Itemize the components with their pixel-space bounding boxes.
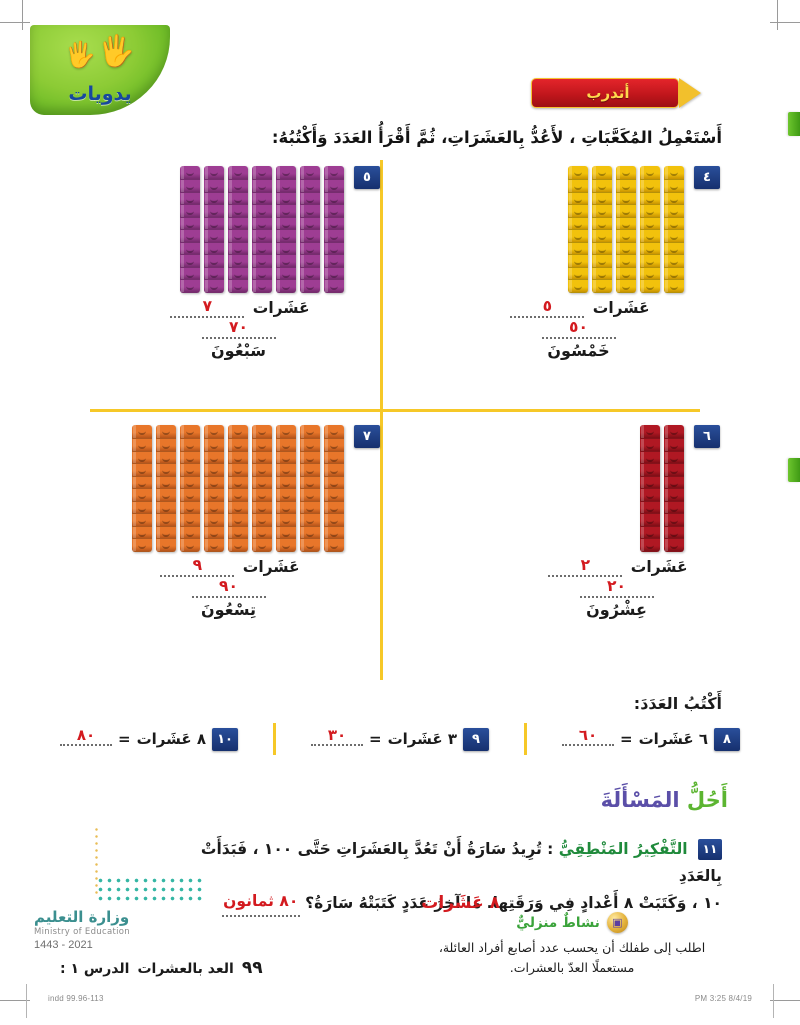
unit-cube (640, 218, 660, 231)
unit-cube (324, 193, 344, 206)
unit-cube (300, 502, 320, 515)
unit-cube (204, 218, 224, 231)
cube-rod (640, 166, 660, 293)
unit-cube (228, 425, 248, 439)
unit-cube (664, 439, 684, 452)
unit-cube (132, 477, 152, 490)
strip-separator (524, 723, 527, 755)
home-activity-icon: ▣ (607, 912, 628, 933)
unit-cube (228, 180, 248, 193)
unit-cube (664, 205, 684, 218)
unit-cube (276, 180, 296, 193)
unit-cube (324, 477, 344, 490)
unit-cube (324, 539, 344, 552)
unit-cube (132, 527, 152, 540)
unit-cube (616, 280, 636, 293)
exercise-number-badge: ٥ (354, 166, 380, 189)
problem-line-1: ١١ التَّفْكِيرُ المَنْطِقِيُّ : تُرِيدُ … (162, 836, 722, 890)
unit-cube (132, 489, 152, 502)
unit-cube (276, 489, 296, 502)
unit-cube (276, 243, 296, 256)
unit-cube (180, 166, 200, 180)
unit-cube (568, 255, 588, 268)
unit-cube (180, 243, 200, 256)
word-answer: عِشْرُونَ (519, 600, 714, 620)
unit-cube (180, 268, 200, 281)
unit-cube (180, 193, 200, 206)
unit-cube (252, 268, 272, 281)
exercise-answers: عَشَرات ٢ ٢٠ عِشْرُونَ (519, 558, 714, 621)
arrow-icon (679, 78, 701, 108)
lesson-title: العد بالعشرات (137, 961, 233, 977)
unit-cube (204, 527, 224, 540)
edge-tab[interactable] (788, 112, 800, 136)
unit-cube (300, 243, 320, 256)
unit-cube (276, 193, 296, 206)
unit-cube (300, 280, 320, 293)
unit-cube (616, 205, 636, 218)
unit-cube (300, 180, 320, 193)
edge-tab[interactable] (788, 458, 800, 482)
unit-cube (276, 514, 296, 527)
unit-cube (156, 425, 176, 439)
unit-cube (568, 193, 588, 206)
cube-rod (664, 166, 684, 293)
unit-cube (640, 514, 660, 527)
unit-cube (300, 452, 320, 465)
exercise-number-badge: ٧ (354, 425, 380, 448)
unit-cube (592, 218, 612, 231)
solve-heading-blue: المَسْأَلَةَ (601, 788, 680, 812)
unit-cube (204, 489, 224, 502)
cube-rod (592, 166, 612, 293)
unit-cube (664, 255, 684, 268)
unit-cube (252, 527, 272, 540)
unit-cube (324, 243, 344, 256)
unit-cube (568, 268, 588, 281)
unit-cube (204, 439, 224, 452)
tens-expression: ٦ عَشَرات (639, 730, 708, 748)
unit-cube (276, 539, 296, 552)
cube-rod (324, 166, 344, 293)
unit-cube (180, 425, 200, 439)
unit-cube (132, 502, 152, 515)
unit-cube (616, 193, 636, 206)
unit-cube (156, 502, 176, 515)
unit-cube (276, 425, 296, 439)
cube-rod (204, 166, 224, 293)
unit-cube (252, 489, 272, 502)
unit-cube (324, 280, 344, 293)
unit-cube (640, 205, 660, 218)
unit-cube (180, 230, 200, 243)
unit-cube (592, 280, 612, 293)
unit-cube (252, 452, 272, 465)
unit-cube (228, 205, 248, 218)
print-rule (26, 984, 27, 1018)
unit-cube (228, 255, 248, 268)
exercise-answers: عَشَرات ٥ ٥٠ خَمْسُونَ (471, 299, 686, 362)
unit-cube (180, 452, 200, 465)
unit-cube (180, 280, 200, 293)
unit-cube (640, 502, 660, 515)
write-number-answer[interactable]: ٨٠ (60, 726, 112, 746)
unit-cube (132, 439, 152, 452)
unit-cube (640, 452, 660, 465)
ministry-name-arabic: وزارة التعليم (34, 908, 130, 926)
unit-cube (568, 280, 588, 293)
unit-cube (252, 464, 272, 477)
word-answer: خَمْسُونَ (471, 341, 686, 361)
cube-rod (616, 166, 636, 293)
unit-cube (252, 425, 272, 439)
unit-cube (664, 230, 684, 243)
unit-cube (616, 268, 636, 281)
unit-cube (276, 255, 296, 268)
unit-cube (300, 514, 320, 527)
unit-cube (664, 452, 684, 465)
cube-rod (228, 425, 248, 552)
crop-mark (22, 0, 23, 30)
unit-cube (156, 527, 176, 540)
instruction-text: أَسْتَعْمِلُ المُكَعَّبَاتِ ، لأَعُدُّ ب… (182, 128, 722, 147)
hands-on-label: يدويات (30, 83, 170, 105)
print-mark-right: 8/4/19 3:25 PM (695, 994, 752, 1003)
unit-cube (592, 268, 612, 281)
unit-cube (664, 280, 684, 293)
unit-cube (204, 166, 224, 180)
unit-cube (156, 514, 176, 527)
unit-cube (300, 464, 320, 477)
unit-cube (276, 439, 296, 452)
write-number-item: ٩ ٣ عَشَرات = ٣٠ (311, 728, 489, 751)
number-answer-blank[interactable]: ٥٠ (542, 318, 616, 339)
unit-cube (228, 218, 248, 231)
unit-cube (664, 527, 684, 540)
unit-cube (664, 539, 684, 552)
unit-cube (204, 205, 224, 218)
cube-rod (228, 166, 248, 293)
unit-cube (276, 527, 296, 540)
number-answer-line: ٢٠ (519, 579, 714, 600)
unit-cube (132, 464, 152, 477)
cube-rod (132, 425, 152, 552)
unit-cube (300, 439, 320, 452)
unit-cube (640, 230, 660, 243)
unit-cube (300, 218, 320, 231)
unit-cube (300, 230, 320, 243)
home-activity-text: اطلب إلى طفلك أن يحسب عدد أصابع أفراد ال… (422, 938, 722, 978)
unit-cube (664, 502, 684, 515)
unit-cube (228, 166, 248, 180)
cube-rod (300, 425, 320, 552)
home-activity-title: نشاطٌ منزليٌّ (516, 915, 600, 931)
unit-cube (180, 502, 200, 515)
unit-cube (180, 514, 200, 527)
unit-cube (252, 502, 272, 515)
unit-cube (276, 166, 296, 180)
unit-cube (252, 514, 272, 527)
unit-cube (228, 539, 248, 552)
unit-cube (664, 268, 684, 281)
unit-cube (324, 205, 344, 218)
unit-cube (204, 477, 224, 490)
unit-cube (300, 268, 320, 281)
textbook-page: 🖐 🖐 يدويات أتدرب أَسْتَعْمِلُ المُكَعَّب… (0, 0, 800, 1025)
cube-rod (252, 425, 272, 552)
lesson-label: الدرس ١ : (60, 961, 129, 977)
unit-cube (228, 193, 248, 206)
unit-cube (592, 230, 612, 243)
unit-cube (204, 230, 224, 243)
unit-cube (156, 452, 176, 465)
divider-vertical (380, 160, 383, 680)
unit-cube (156, 439, 176, 452)
unit-cube (252, 243, 272, 256)
unit-cube (640, 539, 660, 552)
hand-icon: 🖐 (98, 37, 135, 67)
unit-cube (324, 514, 344, 527)
unit-cube (300, 477, 320, 490)
tens-expression: ٣ عَشَرات (388, 730, 457, 748)
write-number-item: ٨ ٦ عَشَرات = ٦٠ (562, 728, 740, 751)
number-answer-blank[interactable]: ٢٠ (580, 577, 654, 598)
unit-cube (228, 268, 248, 281)
unit-cube (300, 425, 320, 439)
exercise-answers: عَشَرات ٧ ٧٠ سَبْعُونَ (131, 299, 346, 362)
solve-problem-heading: أَحُلُّ المَسْأَلَةَ (601, 788, 728, 812)
word-answer: سَبْعُونَ (131, 341, 346, 361)
unit-cube (640, 193, 660, 206)
unit-cube (156, 489, 176, 502)
tens-answer-blank[interactable]: ٢ (548, 556, 622, 577)
unit-cube (204, 452, 224, 465)
unit-cube (616, 166, 636, 180)
unit-cube (664, 166, 684, 180)
unit-cube (204, 255, 224, 268)
number-answer-blank[interactable]: ٩٠ (192, 577, 266, 598)
unit-cube (252, 280, 272, 293)
unit-cube (324, 255, 344, 268)
unit-cube (204, 464, 224, 477)
lesson-footer: ٩٩ العد بالعشرات الدرس ١ : (60, 958, 263, 978)
unit-cube (640, 439, 660, 452)
unit-cube (300, 205, 320, 218)
exercise-answers: عَشَرات ٩ ٩٠ تِسْعُونَ (111, 558, 346, 621)
home-activity: ▣ نشاطٌ منزليٌّ اطلب إلى طفلك أن يحسب عد… (422, 912, 722, 978)
unit-cube (180, 439, 200, 452)
unit-cube (664, 193, 684, 206)
unit-cube (228, 439, 248, 452)
unit-cube (276, 477, 296, 490)
unit-cube (300, 166, 320, 180)
cube-rod (252, 166, 272, 293)
crop-mark (0, 22, 30, 23)
unit-cube (252, 539, 272, 552)
write-number-answer[interactable]: ٣٠ (311, 726, 363, 746)
unit-cube (276, 230, 296, 243)
ministry-years: 2021 - 1443 (34, 939, 130, 951)
unit-cube (276, 268, 296, 281)
exercise-6: ٦ عَشَرات ٢ ٢٠ عِشْرُونَ (519, 425, 720, 620)
unit-cube (664, 477, 684, 490)
page-number: ٩٩ (242, 958, 263, 978)
unit-cube (204, 514, 224, 527)
print-rule (773, 984, 774, 1018)
unit-cube (156, 477, 176, 490)
number-answer-line: ٧٠ (131, 320, 346, 341)
word-answer: تِسْعُونَ (111, 600, 346, 620)
unit-cube (324, 464, 344, 477)
dotted-rule (392, 806, 552, 808)
write-number-strip: ٨ ٦ عَشَرات = ٦٠ ٩ ٣ عَشَرات = ٣٠ ١٠ ٨ ع… (60, 722, 740, 756)
unit-cube (640, 464, 660, 477)
unit-cube (640, 477, 660, 490)
unit-cube (300, 527, 320, 540)
number-answer-blank[interactable]: ٧٠ (202, 318, 276, 339)
unit-cube (568, 243, 588, 256)
unit-cube (252, 205, 272, 218)
unit-cube (640, 280, 660, 293)
write-number-heading: أَكْتُبُ العَدَدَ: (634, 694, 722, 713)
unit-cube (252, 230, 272, 243)
exercise-4: ٤ عَشَرات ٥ ٥٠ خَمْسُونَ (471, 166, 720, 361)
unit-cube (276, 218, 296, 231)
solve-heading-green: أَحُلُّ (687, 788, 728, 812)
write-number-answer[interactable]: ٦٠ (562, 726, 614, 746)
unit-cube (664, 464, 684, 477)
unit-cube (324, 489, 344, 502)
unit-cube (664, 425, 684, 439)
exercise-number-badge: ٨ (714, 728, 740, 751)
unit-cube (180, 539, 200, 552)
tens-answer-blank[interactable]: ٧ (170, 297, 244, 318)
exercise-7: ٧ عَشَرات ٩ ٩٠ تِسْعُونَ (111, 425, 380, 620)
cube-rods (640, 425, 684, 552)
unit-cube (132, 452, 152, 465)
unit-cube (204, 180, 224, 193)
unit-cube (228, 280, 248, 293)
exercise-number-badge: ٤ (694, 166, 720, 189)
tens-word: عَشَرات (253, 299, 310, 317)
unit-cube (640, 255, 660, 268)
unit-cube (180, 477, 200, 490)
unit-cube (228, 514, 248, 527)
unit-cube (180, 218, 200, 231)
unit-cube (132, 539, 152, 552)
unit-cube (252, 255, 272, 268)
unit-cube (640, 527, 660, 540)
tens-answer-blank[interactable]: ٥ (510, 297, 584, 318)
unit-cube (640, 489, 660, 502)
number-answer-line: ٩٠ (111, 579, 346, 600)
tens-answer-line: عَشَرات ٩ (111, 558, 346, 579)
unit-cube (324, 180, 344, 193)
hands-icon-group: 🖐 🖐 (65, 37, 136, 67)
unit-cube (276, 452, 296, 465)
ministry-name-english: Ministry of Education (34, 927, 130, 937)
unit-cube (228, 477, 248, 490)
exercise-number-badge: ١١ (698, 839, 722, 860)
unit-cube (664, 180, 684, 193)
unit-cube (180, 205, 200, 218)
unit-cube (132, 425, 152, 439)
unit-cube (276, 502, 296, 515)
problem-answer-blank[interactable]: ٨٠ ثمانون (222, 888, 300, 917)
problem-answer-secondary: ٨ عَشَرات (421, 893, 500, 913)
unit-cube (204, 425, 224, 439)
unit-cube (568, 218, 588, 231)
cube-rods (132, 425, 344, 552)
unit-cube (180, 464, 200, 477)
unit-cube (640, 243, 660, 256)
exercise-5: ٥ عَشَرات ٧ ٧٠ سَبْعُونَ (131, 166, 380, 361)
unit-cube (204, 539, 224, 552)
unit-cube (204, 268, 224, 281)
exercise-number-badge: ٩ (463, 728, 489, 751)
number-answer-line: ٥٠ (471, 320, 686, 341)
unit-cube (664, 243, 684, 256)
equals-sign: = (118, 730, 131, 748)
unit-cube (324, 425, 344, 439)
tens-answer-line: عَشَرات ٥ (471, 299, 686, 320)
unit-cube (156, 464, 176, 477)
unit-cube (300, 193, 320, 206)
ministry-block: وزارة التعليم Ministry of Education 2021… (34, 908, 130, 951)
unit-cube (180, 180, 200, 193)
cube-rod (640, 425, 660, 552)
tens-word: عَشَرات (593, 299, 650, 317)
unit-cube (640, 166, 660, 180)
unit-cube (568, 180, 588, 193)
problem-text-line-2: ١٠ ، وَكَتَبَتْ ٨ أَعْدادٍ فِي وَرَقَتِه… (305, 894, 722, 912)
unit-cube (568, 205, 588, 218)
unit-cube (324, 452, 344, 465)
unit-cube (180, 527, 200, 540)
unit-cube (592, 205, 612, 218)
unit-cube (640, 180, 660, 193)
unit-cube (300, 489, 320, 502)
unit-cube (300, 539, 320, 552)
tens-expression: ٨ عَشَرات (137, 730, 206, 748)
problem-tag: التَّفْكِيرُ المَنْطِقِيُّ (559, 840, 688, 858)
equals-sign: = (620, 730, 633, 748)
tens-word: عَشَرات (631, 558, 688, 576)
tens-word: عَشَرات (243, 558, 300, 576)
unit-cube (616, 230, 636, 243)
tens-answer-blank[interactable]: ٩ (160, 556, 234, 577)
unit-cube (592, 255, 612, 268)
practice-banner: أتدرب (531, 78, 695, 108)
unit-cube (204, 243, 224, 256)
cube-rods (180, 166, 344, 293)
print-mark-left: 96-113.indd 99 (48, 994, 104, 1003)
crop-mark (770, 1000, 800, 1001)
unit-cube (252, 477, 272, 490)
unit-cube (228, 230, 248, 243)
cube-rod (664, 425, 684, 552)
unit-cube (228, 464, 248, 477)
unit-cube (228, 243, 248, 256)
unit-cube (616, 255, 636, 268)
crop-mark (770, 22, 800, 23)
unit-cube (324, 527, 344, 540)
unit-cube (276, 464, 296, 477)
home-activity-header: ▣ نشاطٌ منزليٌّ (422, 912, 722, 933)
cube-rod (300, 166, 320, 293)
unit-cube (252, 218, 272, 231)
cube-rod (180, 166, 200, 293)
